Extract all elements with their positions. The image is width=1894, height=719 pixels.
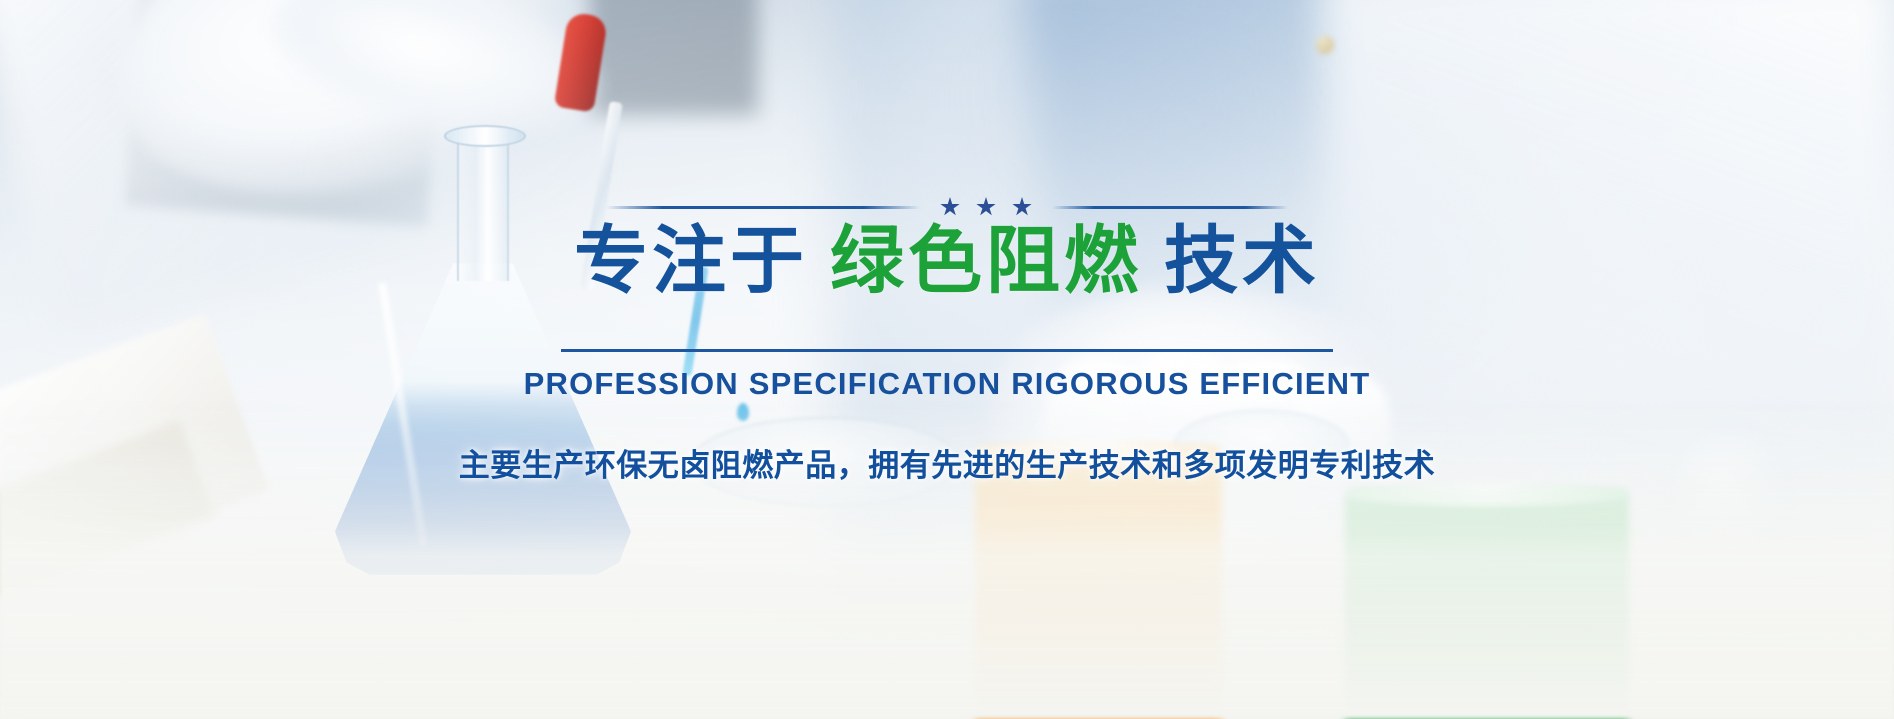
subtitle-chinese: 主要生产环保无卤阻燃产品，拥有先进的生产技术和多项发明专利技术: [0, 440, 1894, 485]
star-icon: [1012, 197, 1032, 217]
title-part-one: 专注于: [574, 218, 808, 304]
hero-banner: 专注于绿色阻燃技术 PROFESSION SPECIFICATION RIGOR…: [0, 0, 1894, 719]
star-icon: [976, 197, 996, 217]
title-underline: [561, 349, 1333, 352]
decorative-rule-left: [606, 206, 920, 209]
decorative-rule-row: [0, 196, 1894, 218]
decorative-rule-right: [1052, 206, 1288, 209]
star-icon: [940, 197, 960, 217]
subtitle-english: PROFESSION SPECIFICATION RIGOROUS EFFICI…: [0, 366, 1894, 402]
star-group: [934, 197, 1038, 217]
lab-equipment-shadow: [587, 0, 757, 115]
title-part-two: 绿色阻燃: [830, 218, 1142, 304]
page-title: 专注于绿色阻燃技术: [0, 224, 1894, 299]
title-part-three: 技术: [1164, 218, 1320, 304]
flask-lip: [444, 125, 525, 147]
banner-content: 专注于绿色阻燃技术 PROFESSION SPECIFICATION RIGOR…: [0, 196, 1894, 485]
